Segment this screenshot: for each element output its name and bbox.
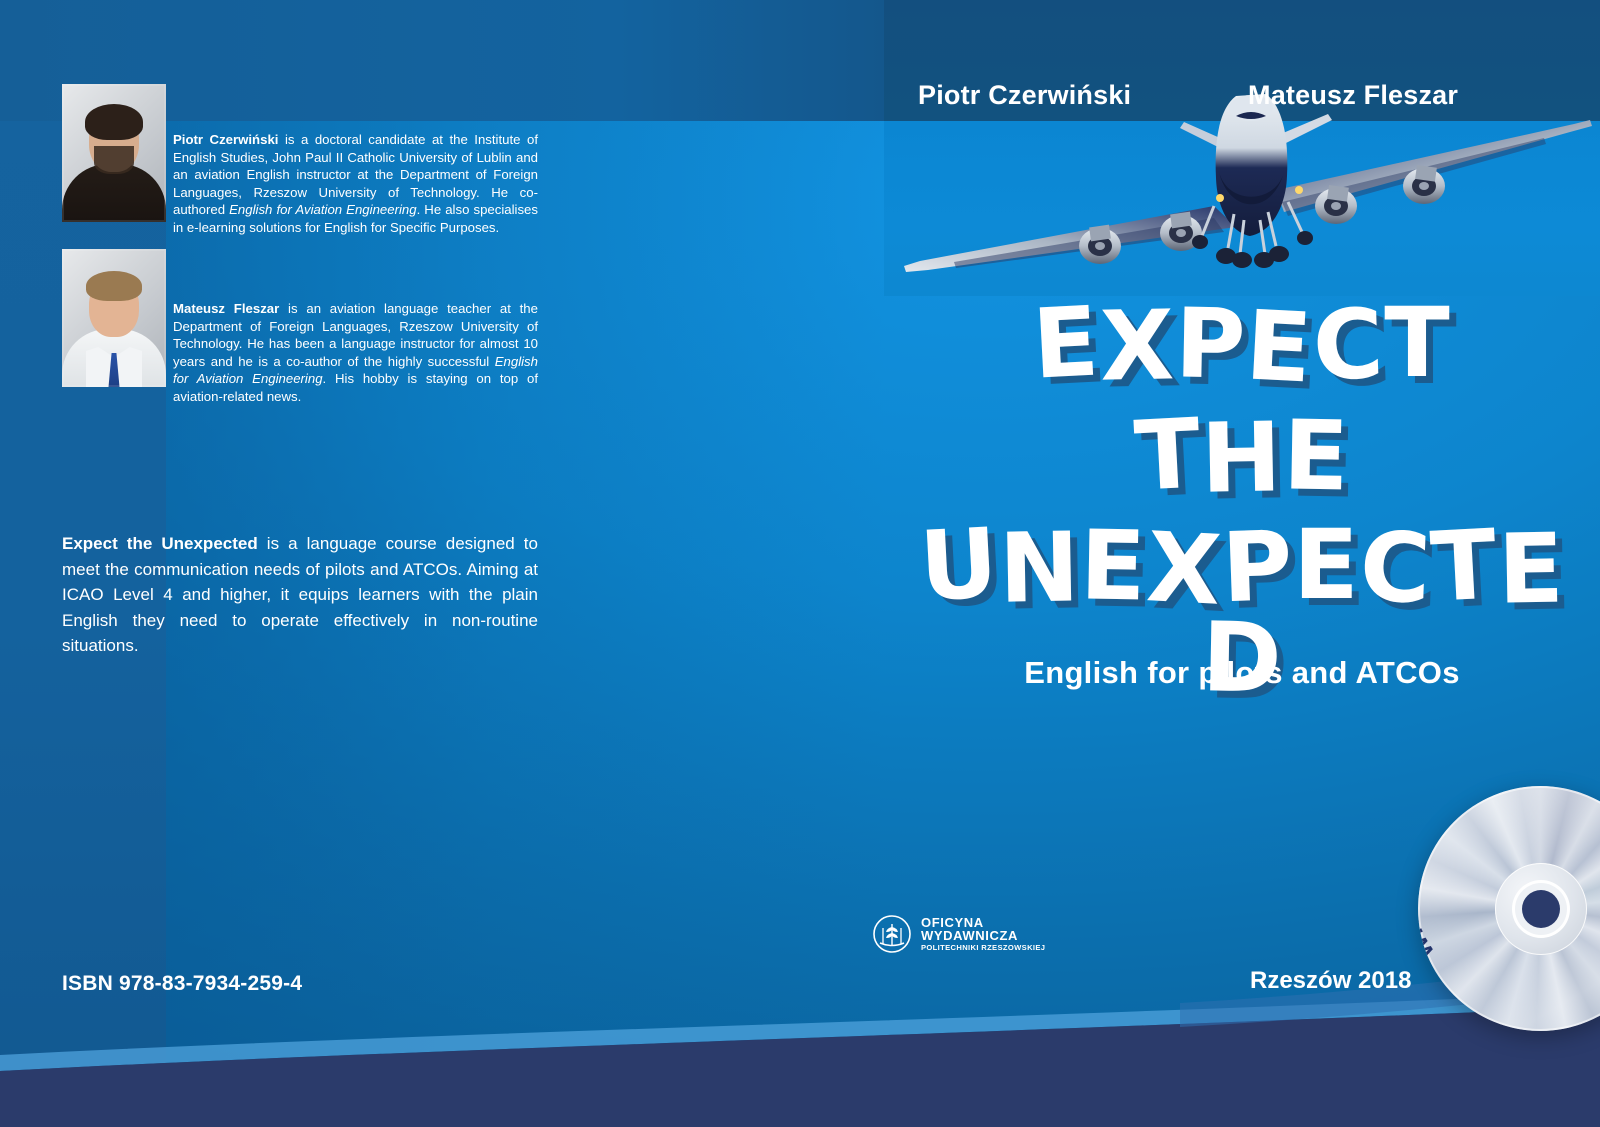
publisher-logo: OFICYNA WYDAWNICZA POLITECHNIKI RZESZOWS…	[872, 914, 1045, 954]
title-line-1: EXPECT	[884, 300, 1600, 390]
photo-frame	[62, 249, 166, 387]
audio-cd-graphic: with Audio CD	[1418, 786, 1600, 1031]
blurb-lead: Expect the Unexpected	[62, 534, 258, 553]
bio-name-2: Mateusz Fleszar	[173, 301, 279, 316]
photo-frame	[62, 84, 166, 222]
publisher-line-1: OFICYNA	[921, 916, 1045, 930]
title-block: EXPECT THE UNEXPECTED	[884, 300, 1600, 703]
bio-name-1: Piotr Czerwiński	[173, 132, 278, 147]
author-name-2: Mateusz Fleszar	[1248, 80, 1458, 111]
book-blurb: Expect the Unexpected is a language cour…	[62, 531, 538, 659]
airplane-illustration	[884, 86, 1600, 281]
author-photo-2	[62, 249, 166, 387]
author-bio-1: Piotr Czerwiński is a doctoral candidate…	[173, 131, 538, 236]
subtitle: English for pilots and ATCOs	[884, 655, 1600, 691]
book-cover: Piotr Czerwiński Mateusz Fleszar EXPECT …	[0, 0, 1600, 1127]
publisher-text: OFICYNA WYDAWNICZA POLITECHNIKI RZESZOWS…	[921, 916, 1045, 953]
author-bio-2: Mateusz Fleszar is an aviation language …	[173, 300, 538, 405]
title-line-2: THE	[884, 412, 1600, 502]
bottom-wave-decoration	[0, 937, 1600, 1127]
bio-italic-1: English for Aviation Engineering	[229, 202, 416, 217]
wheat-book-emblem-icon	[872, 914, 912, 954]
cd-center-hole	[1522, 890, 1560, 928]
author-name-1: Piotr Czerwiński	[918, 80, 1131, 111]
publisher-line-3: POLITECHNIKI RZESZOWSKIEJ	[921, 944, 1045, 952]
place-and-year: Rzeszów 2018	[1250, 967, 1411, 995]
author-photo-1	[62, 84, 166, 222]
cd-badge-text: with Audio CD	[1418, 786, 1483, 966]
publisher-line-2: WYDAWNICZA	[921, 929, 1045, 943]
